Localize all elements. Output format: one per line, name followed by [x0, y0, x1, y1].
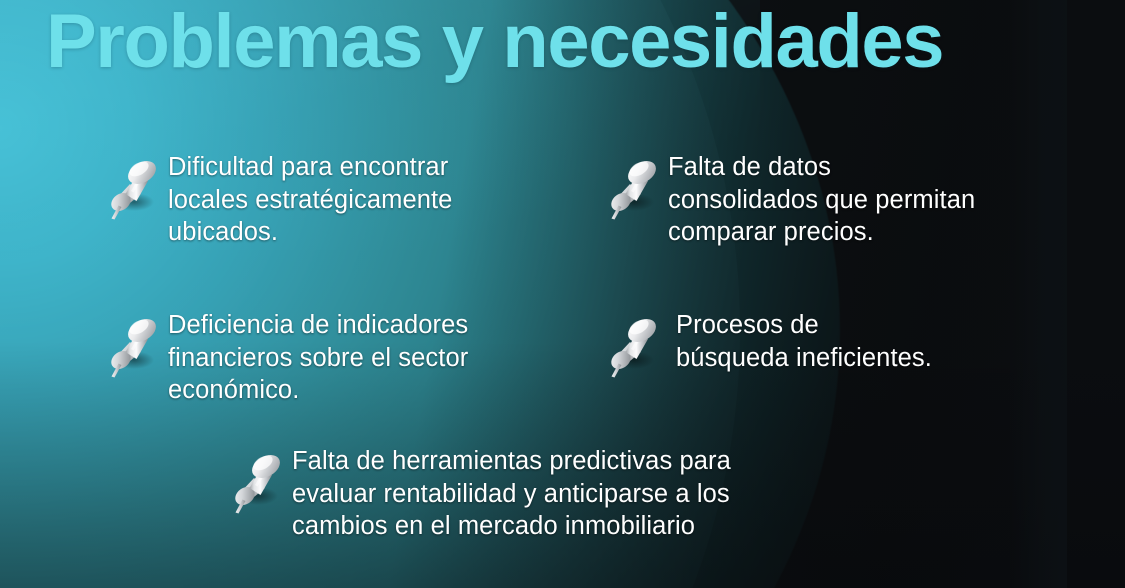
bullet-item-label: Dificultad para encontrar locales estrat…: [168, 150, 452, 249]
slide-canvas: Problemas y necesidades: [0, 0, 1125, 588]
bullet-list: Dificultad para encontrar locales estrat…: [0, 0, 1125, 588]
bullet-item-label: Procesos de búsqueda ineficientes.: [668, 308, 932, 374]
pushpin-icon: [604, 150, 662, 222]
bullet-item-falta-datos: Falta de datos consolidados que permitan…: [604, 150, 1084, 249]
pushpin-icon: [604, 308, 662, 380]
bullet-item-label: Falta de datos consolidados que permitan…: [668, 150, 975, 249]
bullet-item-label: Falta de herramientas predictivas para e…: [292, 444, 731, 543]
bullet-item-procesos-busqueda: Procesos de búsqueda ineficientes.: [604, 308, 1084, 380]
bullet-item-dificultad-locales: Dificultad para encontrar locales estrat…: [104, 150, 574, 249]
bullet-item-deficiencia-indicadores: Deficiencia de indicadores financieros s…: [104, 308, 574, 407]
bullet-item-label: Deficiencia de indicadores financieros s…: [168, 308, 468, 407]
pushpin-icon: [228, 444, 286, 516]
bullet-item-falta-herramientas: Falta de herramientas predictivas para e…: [228, 444, 888, 543]
pushpin-icon: [104, 150, 162, 222]
pushpin-icon: [104, 308, 162, 380]
